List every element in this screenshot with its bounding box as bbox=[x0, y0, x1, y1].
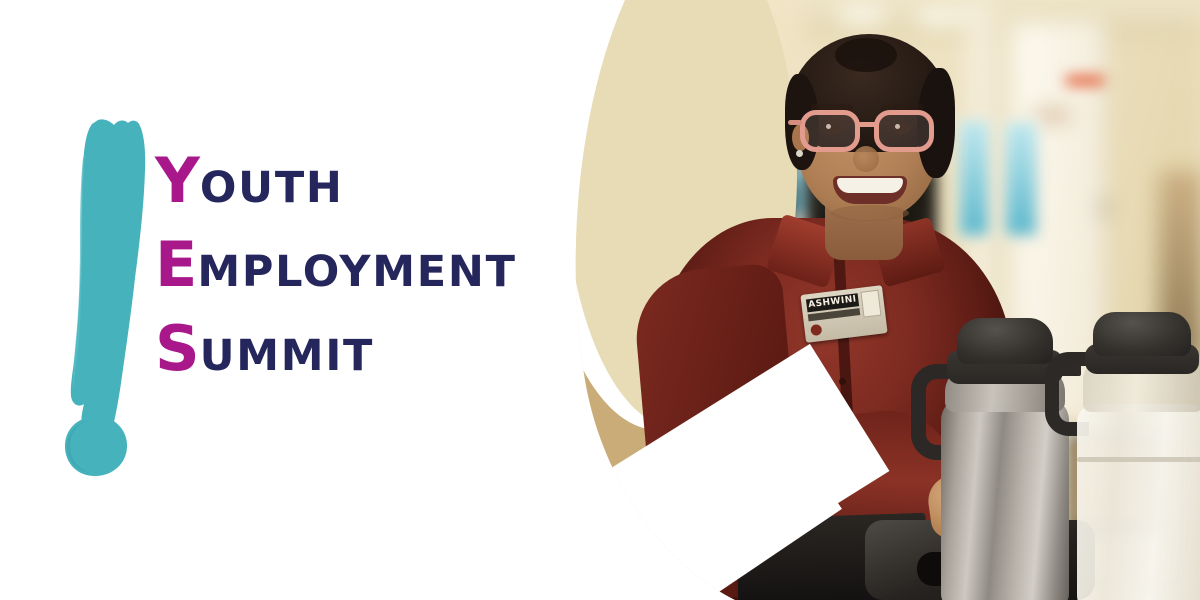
exclamation-dot-icon bbox=[63, 415, 129, 477]
logo-line-youth: Y OUTH bbox=[155, 150, 515, 212]
lens-right bbox=[874, 110, 934, 152]
smiling-mouth bbox=[833, 176, 907, 204]
badge-org-logo-icon bbox=[810, 324, 822, 336]
employee-name-badge: ASHWINI bbox=[800, 285, 887, 343]
clear-milk-carafe bbox=[1071, 310, 1200, 600]
logo-cap-s: S bbox=[155, 318, 200, 380]
logo-rest-summit: UMMIT bbox=[200, 335, 374, 378]
hair-parting bbox=[835, 38, 897, 72]
logo-wordmark: Y OUTH E MPLOYMENT S UMMIT bbox=[155, 150, 515, 380]
logo-rest-youth: OUTH bbox=[200, 167, 344, 210]
logo-cap-y: Y bbox=[155, 150, 200, 212]
logo-block: Y OUTH E MPLOYMENT S UMMIT bbox=[0, 0, 520, 600]
carafe-body bbox=[1077, 404, 1200, 600]
shirt-button bbox=[839, 378, 846, 385]
milk-fill-line bbox=[1077, 457, 1200, 462]
carafe-lid bbox=[957, 318, 1053, 364]
logo-rest-employment: MPLOYMENT bbox=[197, 251, 516, 294]
glasses-temple bbox=[788, 120, 802, 125]
glasses-bridge bbox=[858, 122, 876, 127]
teeth bbox=[837, 178, 903, 193]
badge-photo-area bbox=[860, 290, 881, 318]
carafe-lid bbox=[1093, 312, 1191, 356]
logo-line-summit: S UMMIT bbox=[155, 318, 515, 380]
carafe-body bbox=[941, 398, 1069, 600]
logo-line-employment: E MPLOYMENT bbox=[155, 234, 515, 296]
lens-left bbox=[800, 110, 860, 152]
promotional-banner: Y OUTH E MPLOYMENT S UMMIT bbox=[0, 0, 1200, 600]
photo-region: ASHWINI bbox=[505, 0, 1200, 600]
chin-shadow bbox=[831, 205, 909, 221]
nose bbox=[853, 146, 879, 172]
logo-cap-e: E bbox=[155, 234, 197, 296]
youth-employee-cafeteria-photo: ASHWINI bbox=[505, 0, 1200, 600]
